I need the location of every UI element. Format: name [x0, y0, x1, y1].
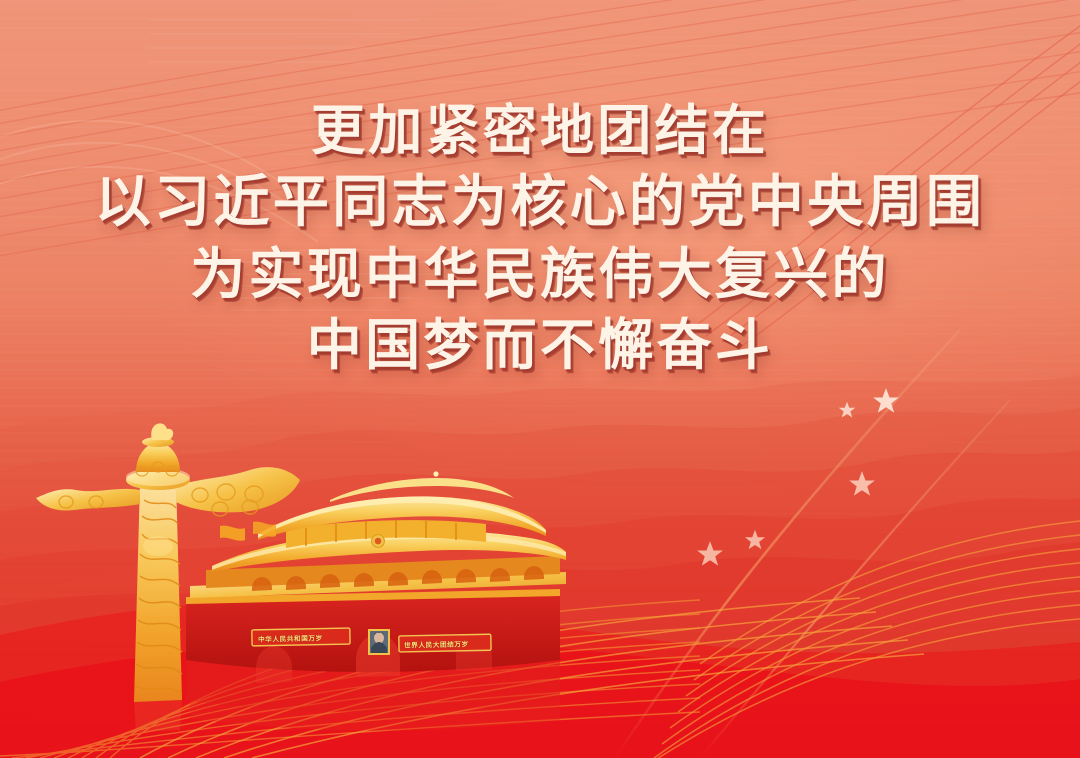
mao-portrait [368, 629, 390, 655]
decor-star-3 [848, 470, 876, 498]
title-line-2: 以习近平同志为核心的党中央周围 [0, 166, 1080, 239]
gate-roof-finial [433, 471, 438, 476]
poster-canvas: 中华人民共和国万岁 世界人民大团结万岁 更加紧密地团结在 以习近平同志为核心的党… [0, 0, 1080, 758]
gate-banner-left-text: 中华人民共和国万岁 [258, 632, 323, 643]
huabiao-dragon-head [143, 536, 173, 556]
poster-title-block: 更加紧密地团结在 以习近平同志为核心的党中央周围 为实现中华民族伟大复兴的 中国… [0, 96, 1080, 382]
gate-banner-right-text: 世界人民大团结万岁 [404, 638, 469, 649]
decor-star-5 [696, 540, 724, 568]
title-line-3: 为实现中华民族伟大复兴的 [0, 239, 1080, 311]
title-line-4: 中国梦而不懈奋斗 [0, 310, 1080, 382]
huabiao-reflection [134, 700, 182, 732]
decor-star-4 [744, 529, 766, 551]
decor-star-2 [872, 387, 900, 415]
title-line-1: 更加紧密地团结在 [0, 96, 1080, 166]
national-emblem [372, 535, 385, 548]
decor-star-1 [838, 401, 856, 419]
